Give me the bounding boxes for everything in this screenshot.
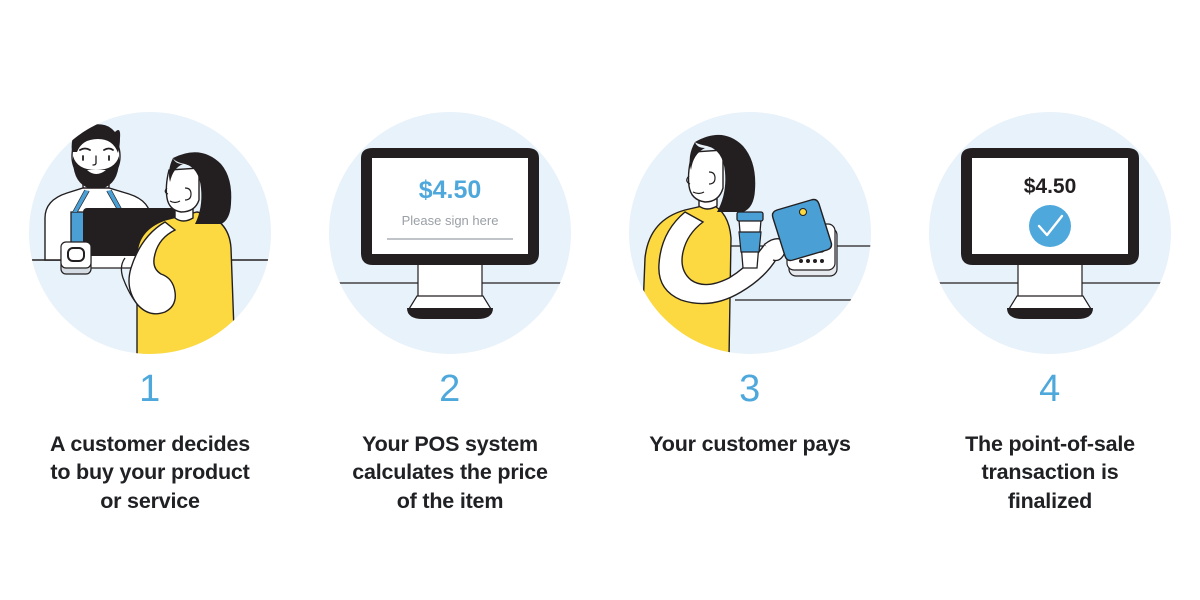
step-3: 3 Your customer pays bbox=[600, 0, 900, 600]
illustration-customer-paying-with-phone bbox=[625, 108, 875, 358]
monitor-base-plate bbox=[409, 296, 491, 309]
caption-line: The point-of-sale bbox=[965, 430, 1135, 458]
caption-line: calculates the price bbox=[352, 458, 548, 486]
check-circle-icon bbox=[1029, 205, 1071, 247]
monitor-base bbox=[1007, 308, 1093, 319]
illustration-pos-terminal-signature-screen: $4.50 Please sign here bbox=[325, 108, 575, 358]
monitor-base-plate bbox=[1009, 296, 1091, 309]
screen-amount: $4.50 bbox=[419, 176, 482, 204]
monitor-base bbox=[407, 308, 493, 319]
caption-line: of the item bbox=[352, 487, 548, 515]
card-reader-device[interactable] bbox=[61, 242, 91, 274]
caption-line: or service bbox=[50, 487, 250, 515]
step-number: 3 bbox=[739, 370, 761, 408]
step-4: $4.50 4 The point-of-sale transaction is… bbox=[900, 0, 1200, 600]
step-caption: The point-of-sale transaction is finaliz… bbox=[965, 430, 1135, 515]
screen-amount: $4.50 bbox=[1024, 175, 1077, 198]
caption-line: transaction is bbox=[965, 458, 1135, 486]
caption-line: to buy your product bbox=[50, 458, 250, 486]
step-number: 4 bbox=[1039, 370, 1061, 408]
monitor-neck bbox=[1018, 263, 1082, 297]
step-number: 1 bbox=[139, 370, 161, 408]
caption-line: finalized bbox=[965, 487, 1135, 515]
step-caption: Your customer pays bbox=[649, 430, 851, 458]
step-caption: A customer decides to buy your product o… bbox=[50, 430, 250, 515]
pos-process-infographic: 1 A customer decides to buy your product… bbox=[0, 0, 1200, 600]
monitor-screen bbox=[372, 158, 528, 254]
caption-line: Your customer pays bbox=[649, 430, 851, 458]
step-number: 2 bbox=[439, 370, 461, 408]
step-1: 1 A customer decides to buy your product… bbox=[0, 0, 300, 600]
caption-line: Your POS system bbox=[352, 430, 548, 458]
monitor-neck bbox=[418, 263, 482, 297]
illustration-pos-terminal-confirmation-screen: $4.50 bbox=[925, 108, 1175, 358]
step-caption: Your POS system calculates the price of … bbox=[352, 430, 548, 515]
screen-prompt: Please sign here bbox=[402, 213, 499, 228]
step-2: $4.50 Please sign here 2 Your POS system… bbox=[300, 0, 600, 600]
illustration-customer-and-shopkeeper-at-counter bbox=[25, 108, 275, 358]
caption-line: A customer decides bbox=[50, 430, 250, 458]
